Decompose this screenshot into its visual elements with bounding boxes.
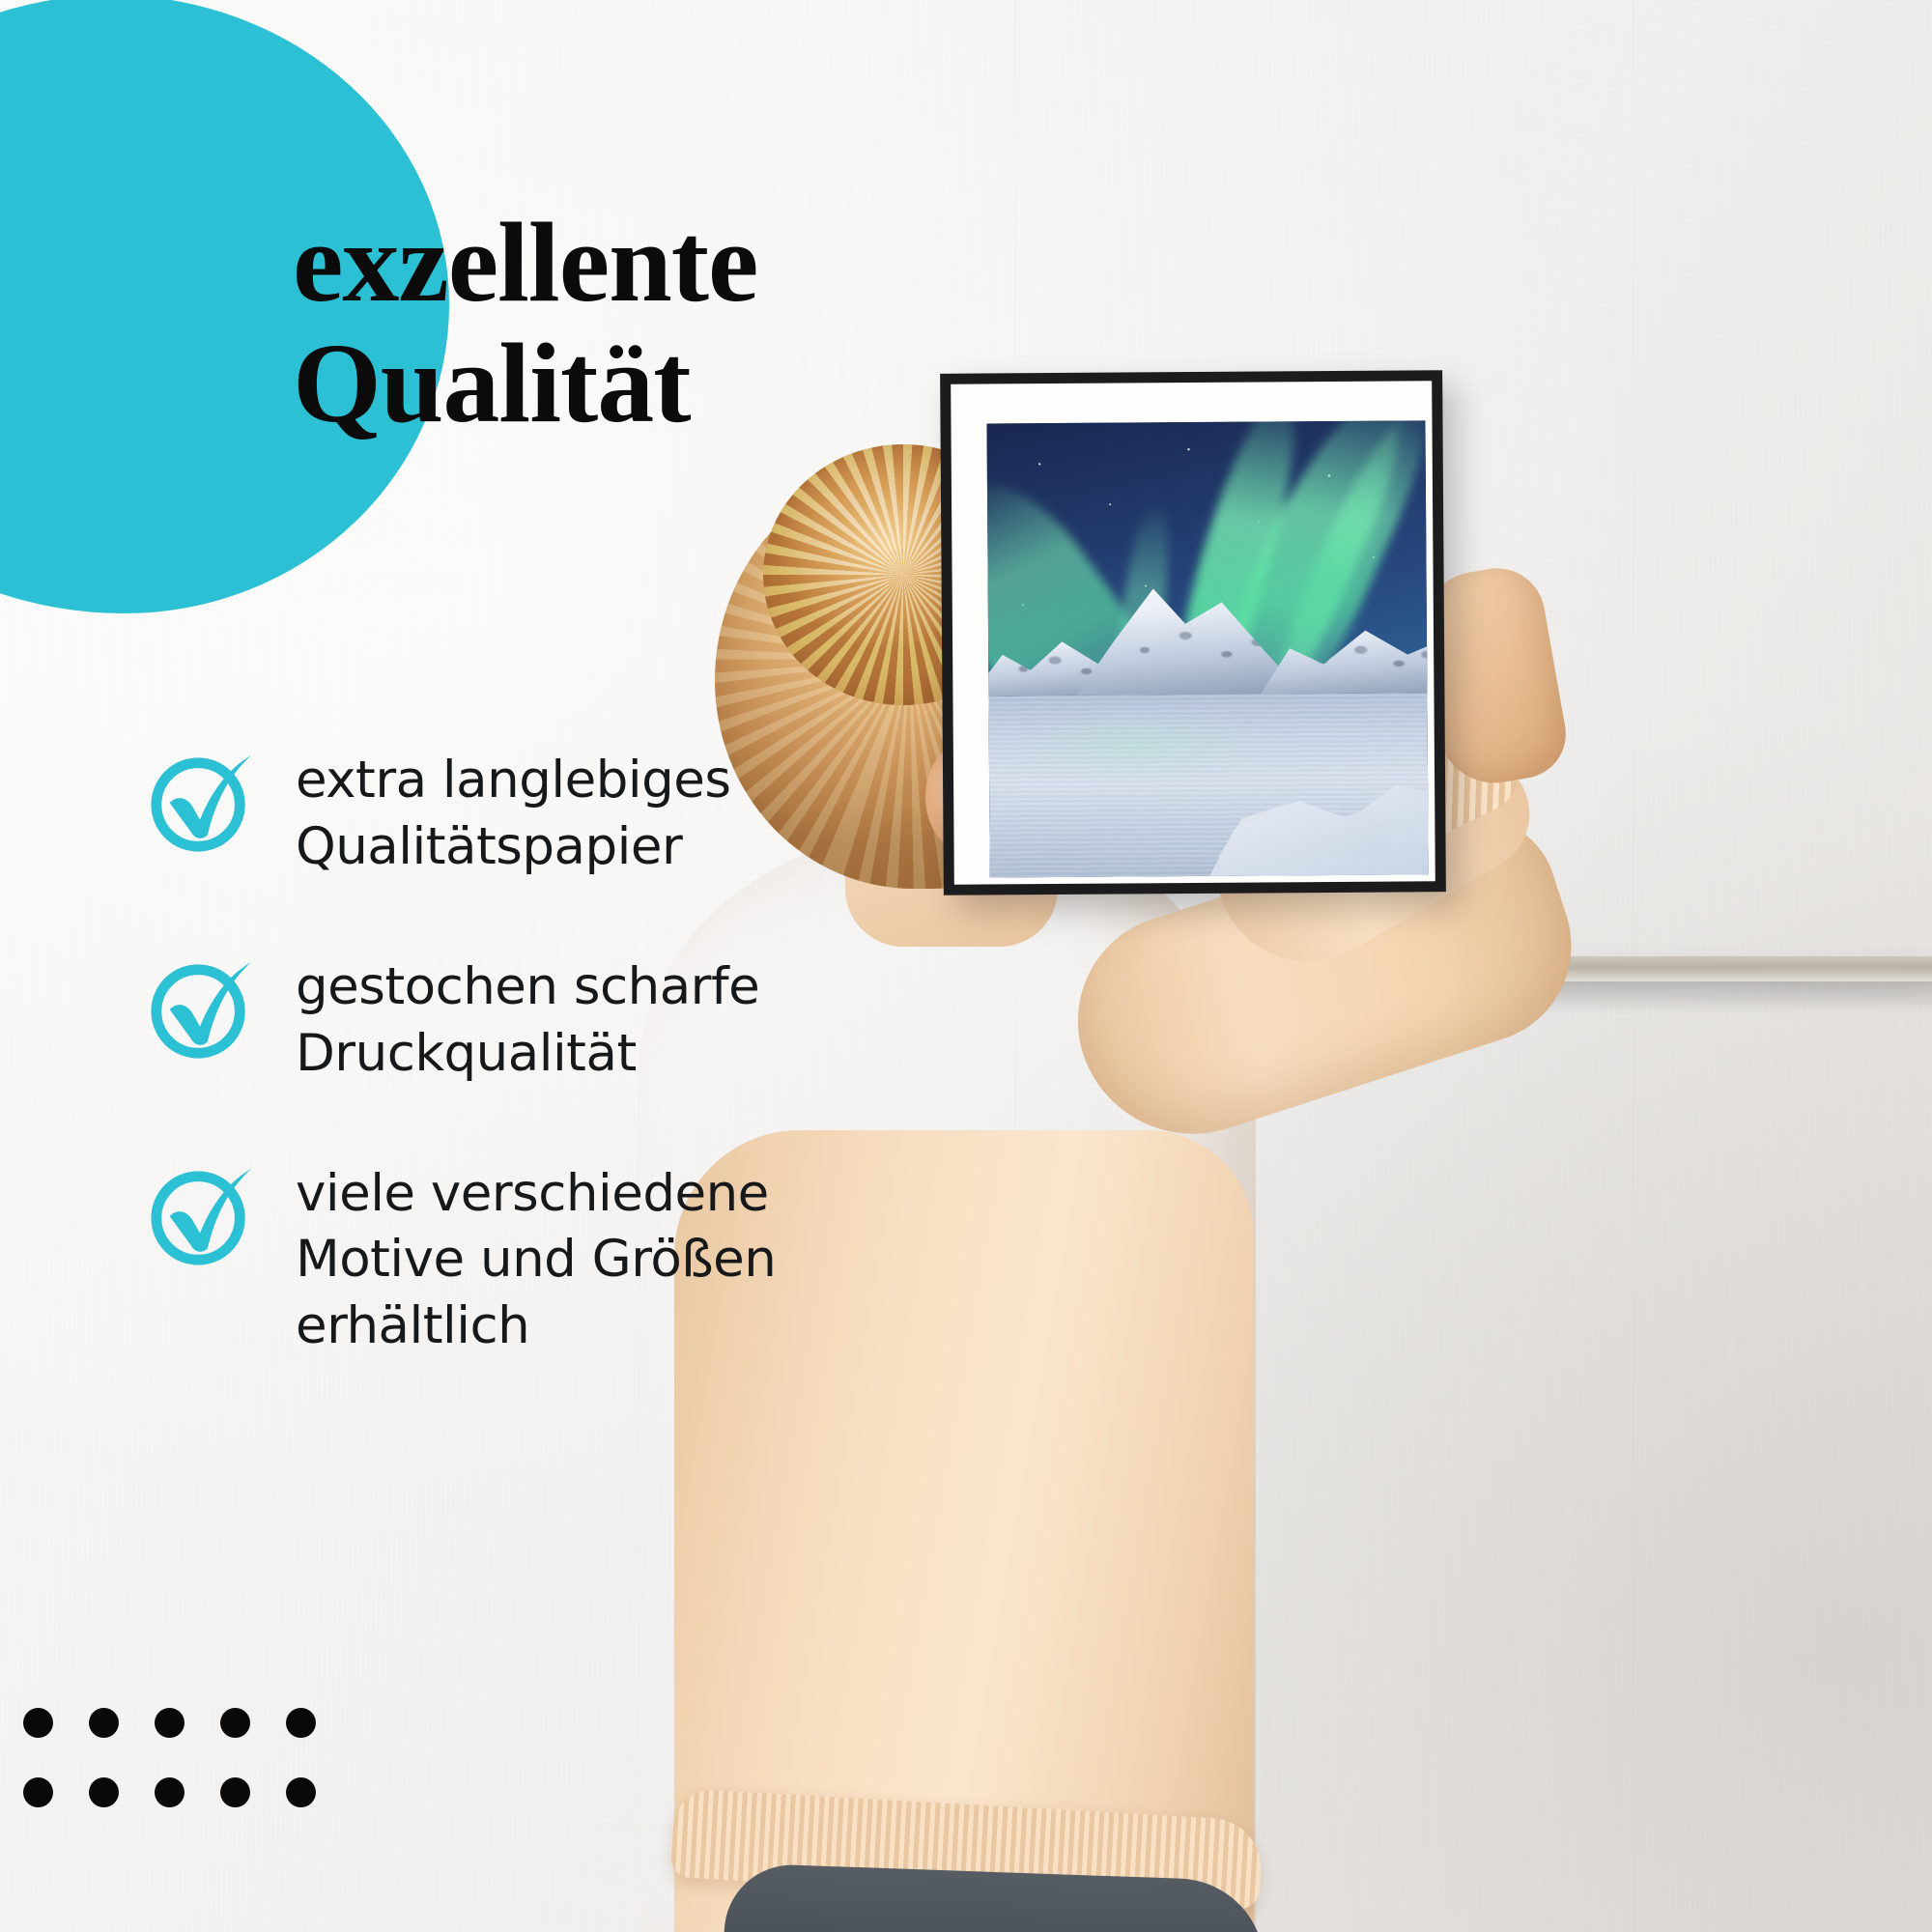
dot	[89, 1777, 119, 1807]
list-item: extra langlebiges Qualitätspapier	[145, 744, 898, 881]
check-circle-icon	[145, 954, 259, 1063]
list-item-line: Motive und Größen	[296, 1227, 776, 1293]
dot	[286, 1708, 316, 1738]
list-item-line: extra langlebiges	[296, 748, 730, 814]
feature-list: extra langlebiges Qualitätspapier gestoc…	[145, 744, 898, 1360]
aurora-artwork	[986, 420, 1428, 877]
list-item-text: extra langlebiges Qualitätspapier	[296, 744, 730, 881]
dot	[220, 1777, 250, 1807]
dot-grid-accent	[23, 1708, 316, 1807]
list-item-text: viele verschiedene Motive und Größen erh…	[296, 1157, 776, 1361]
dot	[155, 1777, 185, 1807]
page-title: exzellente Qualität	[293, 202, 1162, 443]
list-item-line: erhältlich	[296, 1293, 776, 1360]
list-item-line: Qualitätspapier	[296, 814, 730, 881]
check-circle-icon	[145, 748, 259, 856]
headline-line-2: Qualität	[293, 323, 1162, 443]
list-item: gestochen scharfe Druckqualität	[145, 951, 898, 1088]
list-item-text: gestochen scharfe Druckqualität	[296, 951, 759, 1088]
dot	[23, 1777, 53, 1807]
headline-line-1: exzellente	[293, 202, 1162, 323]
dot	[23, 1708, 53, 1738]
picture-frame	[940, 370, 1446, 895]
dot	[89, 1708, 119, 1738]
dot	[220, 1708, 250, 1738]
check-circle-icon	[145, 1161, 259, 1269]
list-item: viele verschiedene Motive und Größen erh…	[145, 1157, 898, 1361]
list-item-line: Druckqualität	[296, 1021, 759, 1088]
dot	[286, 1777, 316, 1807]
list-item-line: viele verschiedene	[296, 1161, 776, 1228]
promo-graphic: exzellente Qualität extra langlebiges Qu…	[0, 0, 1932, 1932]
photo-grain	[986, 420, 1428, 877]
list-item-line: gestochen scharfe	[296, 954, 759, 1021]
dot	[155, 1708, 185, 1738]
